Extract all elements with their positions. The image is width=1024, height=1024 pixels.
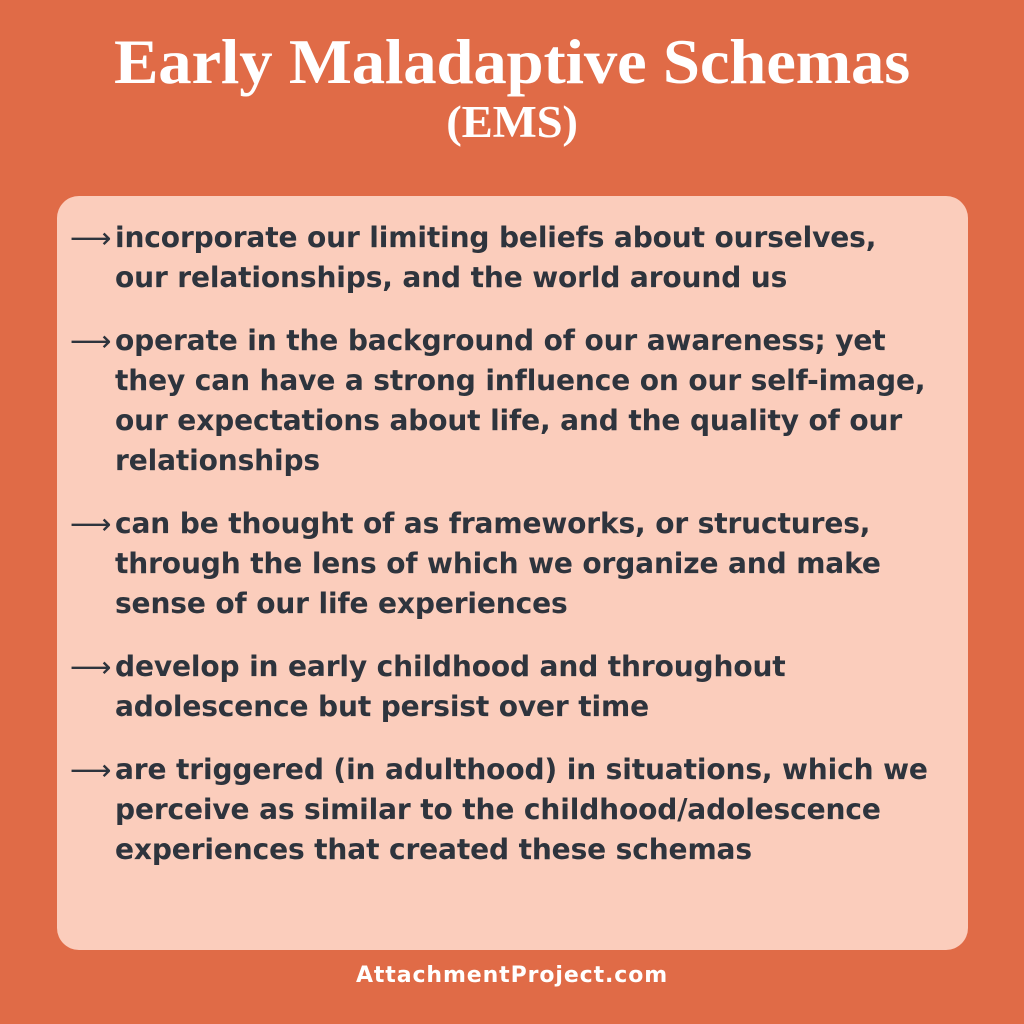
list-item: ⟶ are triggered (in adulthood) in situat… xyxy=(68,750,942,870)
page-title: Early Maladaptive Schemas xyxy=(0,30,1024,94)
content-card: ⟶ incorporate our limiting beliefs about… xyxy=(57,196,968,950)
arrow-right-icon: ⟶ xyxy=(68,504,115,544)
page-subtitle: (EMS) xyxy=(0,96,1024,149)
list-item: ⟶ develop in early childhood and through… xyxy=(68,647,942,727)
arrow-right-icon: ⟶ xyxy=(68,218,115,258)
arrow-right-icon: ⟶ xyxy=(68,750,115,790)
list-item: ⟶ operate in the background of our aware… xyxy=(68,321,942,481)
list-item: ⟶ incorporate our limiting beliefs about… xyxy=(68,218,942,298)
arrow-right-icon: ⟶ xyxy=(68,321,115,361)
poster-canvas: Early Maladaptive Schemas (EMS) ⟶ incorp… xyxy=(0,0,1024,1024)
list-item-text: can be thought of as frameworks, or stru… xyxy=(115,504,930,624)
arrow-right-icon: ⟶ xyxy=(68,647,115,687)
footer-attribution: AttachmentProject.com xyxy=(0,963,1024,988)
list-item-text: incorporate our limiting beliefs about o… xyxy=(115,218,930,298)
list-item-text: operate in the background of our awarene… xyxy=(115,321,930,481)
bullet-list: ⟶ incorporate our limiting beliefs about… xyxy=(68,218,942,870)
title-block: Early Maladaptive Schemas (EMS) xyxy=(0,0,1024,149)
list-item-text: are triggered (in adulthood) in situatio… xyxy=(115,750,930,870)
list-item: ⟶ can be thought of as frameworks, or st… xyxy=(68,504,942,624)
list-item-text: develop in early childhood and throughou… xyxy=(115,647,930,727)
